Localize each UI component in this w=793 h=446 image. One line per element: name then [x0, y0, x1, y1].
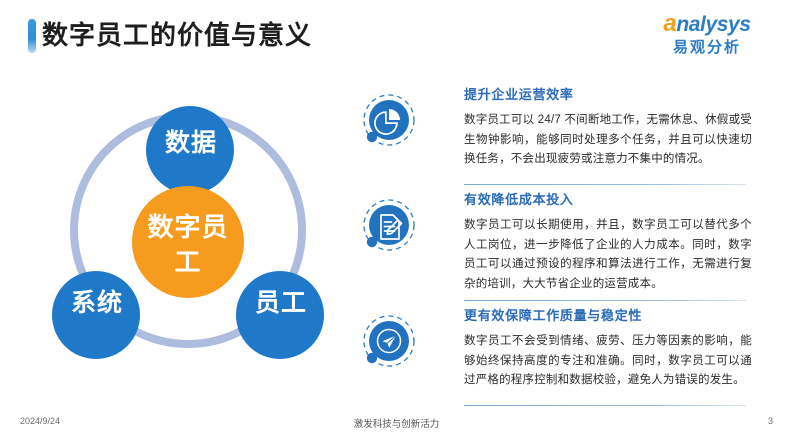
logo-a-glyph: a	[663, 10, 676, 37]
benefit-body: 数字员工不会受到情绪、疲劳、压力等因素的影响，能够始终保持高度的专注和准确。同时…	[464, 332, 752, 391]
node-circle-bottom-left[interactable]	[52, 271, 140, 359]
benefit-title: 更有效保障工作质量与稳定性	[464, 307, 772, 325]
node-circle-bottom-right[interactable]	[236, 271, 324, 359]
logo-wordmark: analysys	[643, 12, 771, 37]
footer-page-number: 3	[768, 416, 773, 426]
node-circle-top[interactable]	[146, 106, 234, 194]
paper-plane-icon	[356, 311, 420, 375]
section-divider	[464, 405, 746, 406]
node-circle-center[interactable]	[132, 186, 244, 298]
value-circle-diagram: 数据 系统 员工 数字员工	[18, 82, 358, 382]
benefit-title: 有效降低成本投入	[464, 191, 772, 209]
page-title: 数字员工的价值与意义	[42, 17, 312, 53]
slide: 数字员工的价值与意义 analysys 易观分析 数据 系统 员工 数字员工	[0, 0, 793, 446]
diagram-svg	[18, 82, 358, 382]
benefit-body: 数字员工可以 24/7 不间断地工作，无需休息、休假或受生物钟影响，能够同时处理…	[464, 111, 752, 170]
benefit-block: 提升企业运营效率 数字员工可以 24/7 不间断地工作，无需休息、休假或受生物钟…	[352, 86, 772, 178]
brand-logo: analysys 易观分析	[643, 12, 771, 57]
footer-tagline: 激发科技与创新活力	[0, 416, 793, 430]
section-divider	[464, 184, 746, 185]
slide-header: 数字员工的价值与意义 analysys 易观分析	[0, 0, 793, 72]
section-divider	[464, 300, 746, 301]
title-accent-bar	[28, 19, 36, 53]
benefit-title: 提升企业运营效率	[464, 86, 772, 104]
benefits-list: 提升企业运营效率 数字员工可以 24/7 不间断地工作，无需休息、休假或受生物钟…	[352, 86, 772, 412]
benefit-block: 更有效保障工作质量与稳定性 数字员工不会受到情绪、疲劳、压力等因素的影响，能够始…	[352, 307, 772, 399]
logo-chinese-name: 易观分析	[643, 39, 771, 57]
pie-chart-icon	[356, 90, 420, 154]
document-edit-icon	[356, 195, 420, 259]
logo-wordmark-rest: nalysys	[676, 13, 750, 36]
benefit-block: 有效降低成本投入 数字员工可以长期使用，并且，数字员工可以替代多个人工岗位，进一…	[352, 191, 772, 294]
benefit-body: 数字员工可以长期使用，并且，数字员工可以替代多个人工岗位，进一步降低了企业的人力…	[464, 216, 752, 294]
slide-footer: 2024/9/24 激发科技与创新活力 3	[0, 416, 793, 432]
